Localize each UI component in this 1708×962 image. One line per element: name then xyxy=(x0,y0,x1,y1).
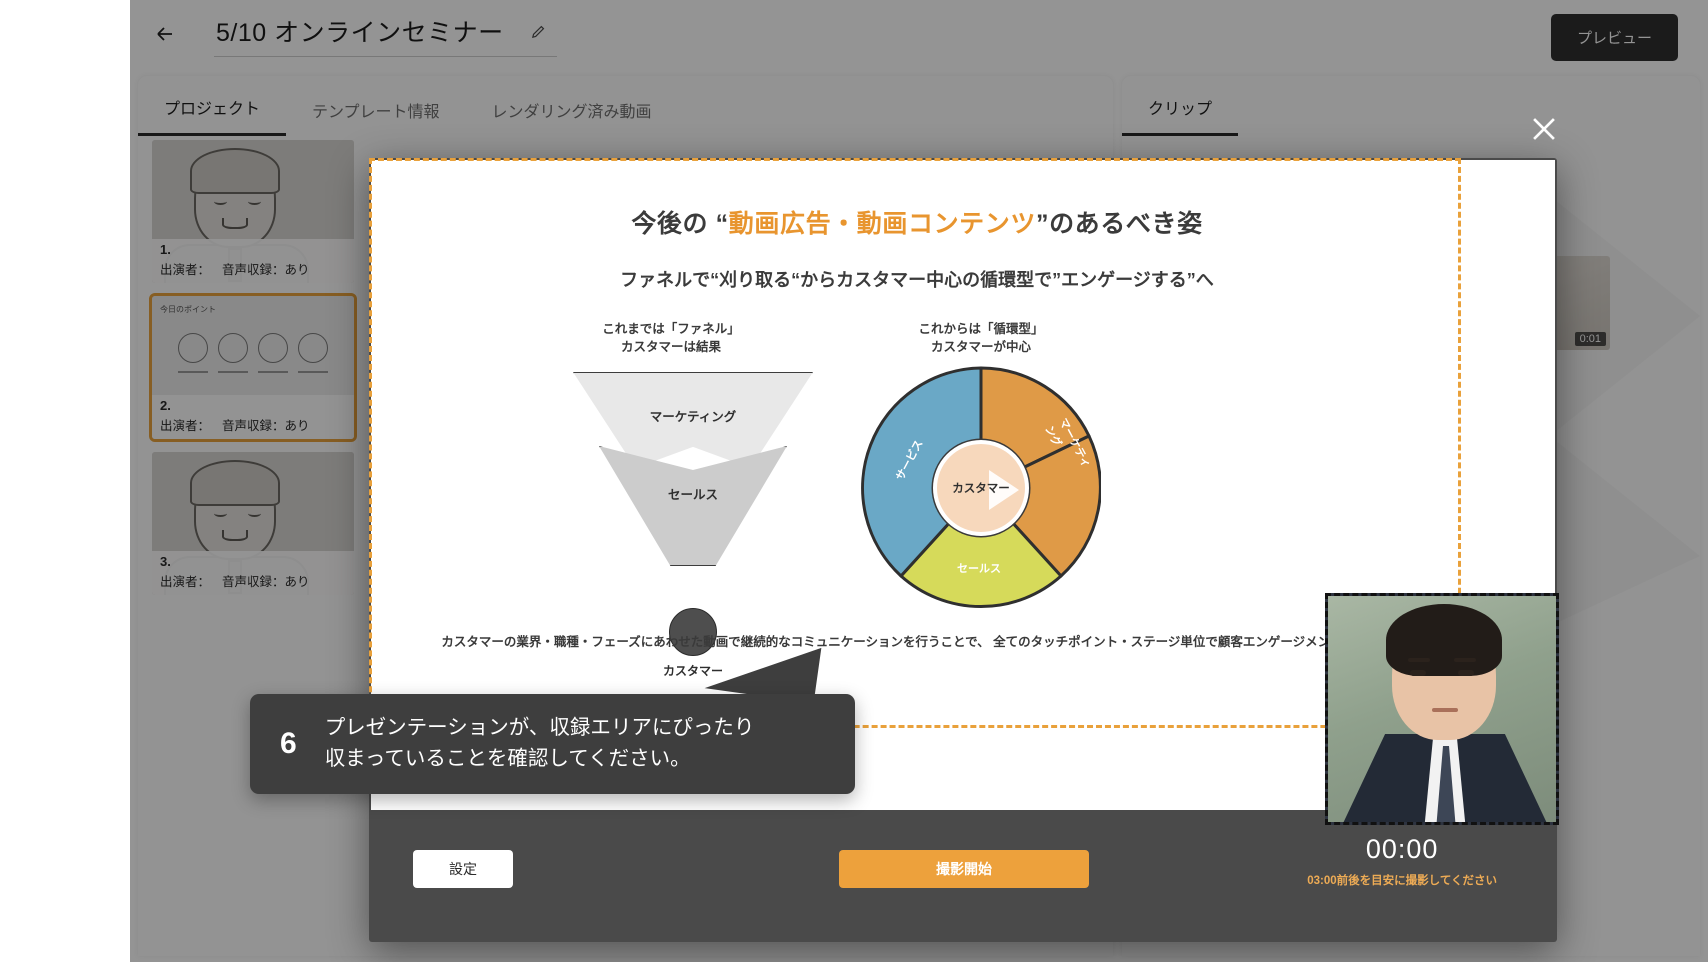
tooltip-callout: 6 プレゼンテーションが、収録エリアにぴったり 収まっていることを確認してくださ… xyxy=(250,694,855,794)
slide-subtitle: ファネルで“刈り取る“からカスタマー中心の循環型で”エンゲージする”へ xyxy=(371,266,1463,292)
funnel-stage-top-label: マーケティング xyxy=(573,406,813,425)
start-recording-button[interactable]: 撮影開始 xyxy=(839,850,1089,888)
presenter-video[interactable] xyxy=(1325,593,1559,825)
slide-title-before: 今後の “ xyxy=(631,210,728,238)
slide-title: 今後の “動画広告・動画コンテンツ”のあるべき姿 xyxy=(371,204,1463,240)
close-icon[interactable] xyxy=(1527,112,1561,146)
settings-button[interactable]: 設定 xyxy=(413,850,513,888)
funnel-caption: これまでは「ファネル」 カスタマーは結果 xyxy=(551,320,791,356)
slide-title-highlight: 動画広告・動画コンテンツ xyxy=(729,210,1036,238)
slide-diagram: これまでは「ファネル」 カスタマーは結果 これからは「循環型」 カスタマーが中心… xyxy=(371,320,1463,650)
circle-caption: これからは「循環型」 カスタマーが中心 xyxy=(861,320,1101,356)
recording-toolbar: 設定 撮影開始 00:00 03:00前後を目安に撮影してください xyxy=(371,812,1555,940)
timer-value: 00:00 xyxy=(1307,834,1497,865)
callout-step-number: 6 xyxy=(280,727,297,761)
funnel-graphic: マーケティング セールス カスタマー xyxy=(573,372,813,562)
circular-graphic: サービス マーケティング セールス カスタマー xyxy=(861,364,1101,614)
funnel-stage-mid-shape xyxy=(599,446,787,566)
presentation-slide: 今後の “動画広告・動画コンテンツ”のあるべき姿 ファネルで“刈り取る“からカス… xyxy=(371,166,1463,732)
slide-note: カスタマーの業界・職種・フェーズにあわせた動画で継続的なコミュニケーションを行う… xyxy=(371,632,1463,653)
slide-title-after: ”のあるべき姿 xyxy=(1036,210,1203,238)
segment-sales-label: セールス xyxy=(957,560,1001,576)
callout-text: プレゼンテーションが、収録エリアにぴったり 収まっていることを確認してください。 xyxy=(325,713,755,775)
page-left-margin xyxy=(0,0,130,962)
recording-timer: 00:00 03:00前後を目安に撮影してください xyxy=(1307,834,1497,888)
circle-center-label: カスタマー xyxy=(952,480,1010,496)
circle-center: カスタマー xyxy=(933,440,1029,536)
screen-root: 5/10 オンラインセミナー プレビュー プロジェクト テンプレート情報 レンダ… xyxy=(0,0,1708,962)
funnel-stage-mid-label: セールス xyxy=(573,484,813,503)
timer-hint: 03:00前後を目安に撮影してください xyxy=(1307,872,1497,888)
